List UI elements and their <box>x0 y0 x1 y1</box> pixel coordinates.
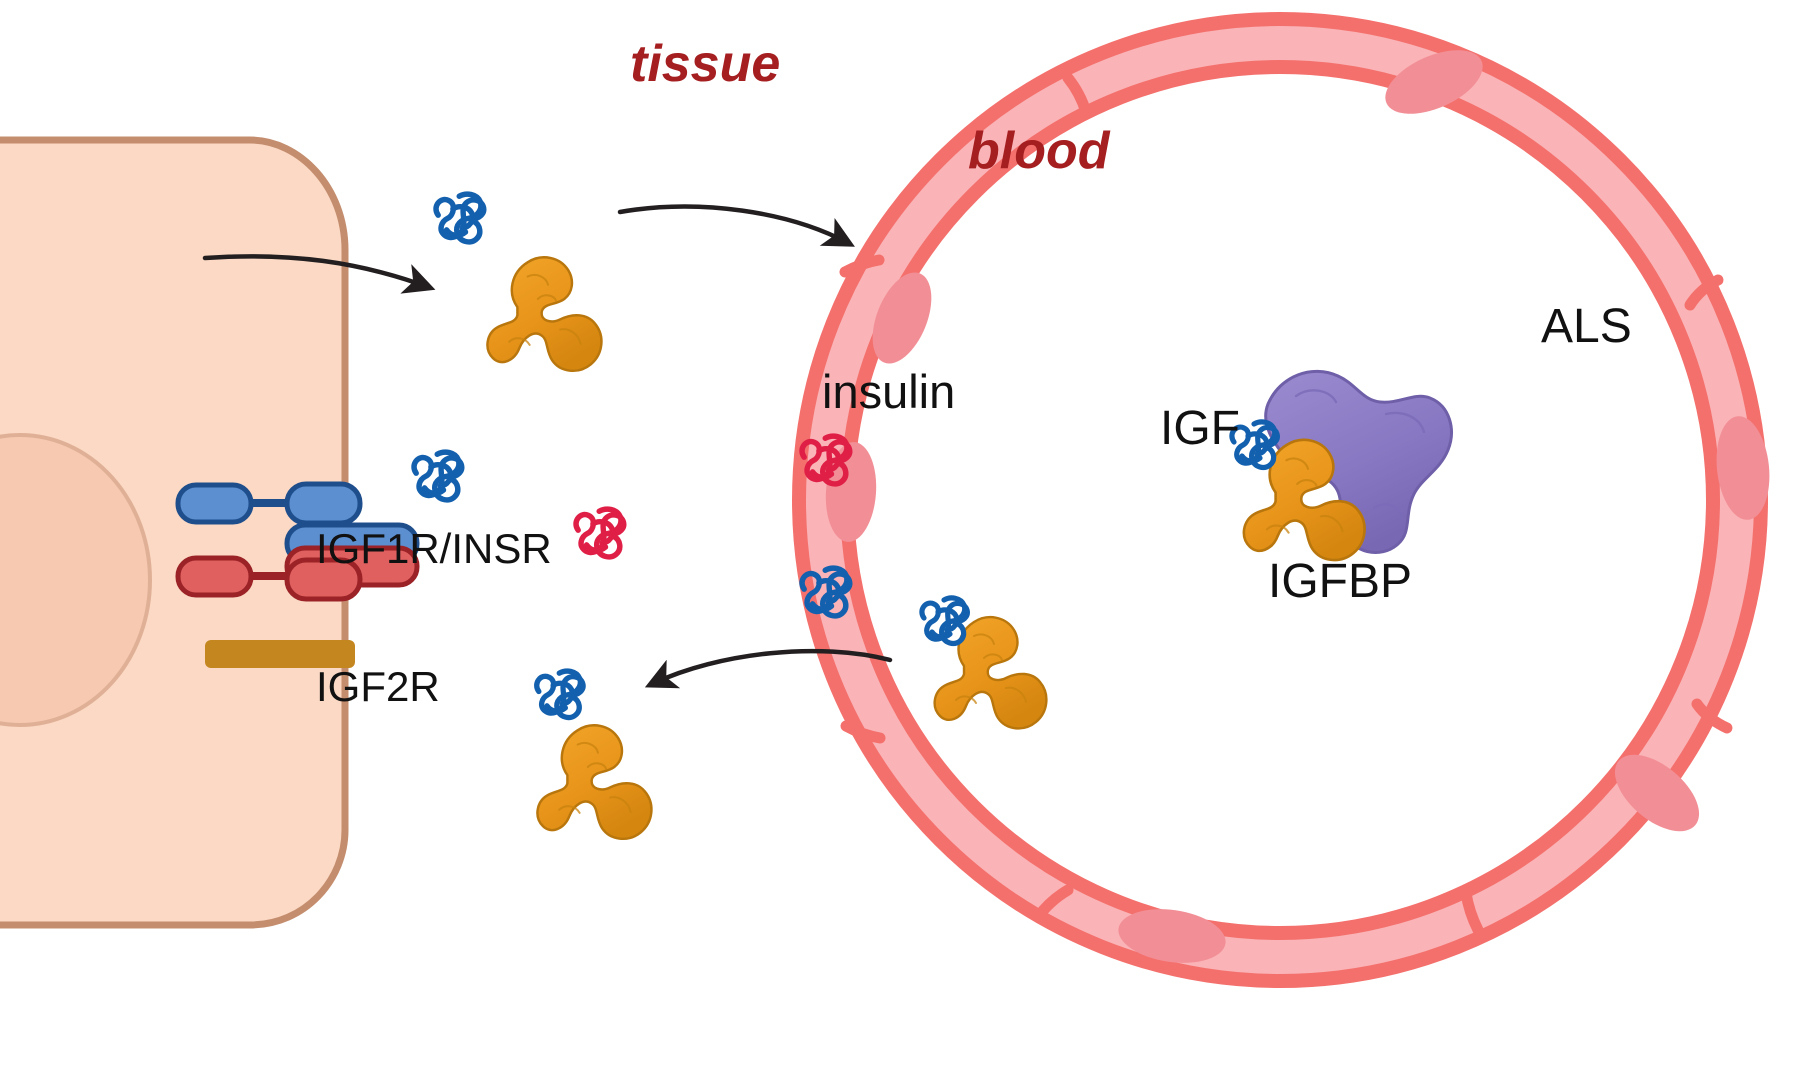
label-igf: IGF <box>1160 405 1240 453</box>
pathway-illustration <box>0 0 1814 1070</box>
igfbp-igf-complex <box>537 671 652 839</box>
label-tissue: tissue <box>630 38 780 90</box>
igf-molecule <box>436 194 484 242</box>
insulin-molecule <box>576 509 624 557</box>
label-als: ALS <box>1541 303 1632 351</box>
label-igf2r: IGF2R <box>316 666 440 708</box>
label-igfbp: IGFBP <box>1268 558 1412 606</box>
igfbp-molecule <box>487 257 601 370</box>
receptor-blue-intracellular <box>178 485 251 522</box>
label-insulin: insulin <box>822 368 955 415</box>
label-igf1r-insr: IGF1R/INSR <box>316 528 552 570</box>
diagram-canvas: tissue blood insulin IGF1R/INSR IGF2R AL… <box>0 0 1814 1070</box>
label-blood: blood <box>968 125 1110 177</box>
igf-molecule <box>414 452 462 500</box>
receptor-blue-membrane <box>287 484 360 523</box>
receptor-red-intracellular <box>178 558 251 595</box>
arrow-tissue-to-blood <box>620 207 848 243</box>
